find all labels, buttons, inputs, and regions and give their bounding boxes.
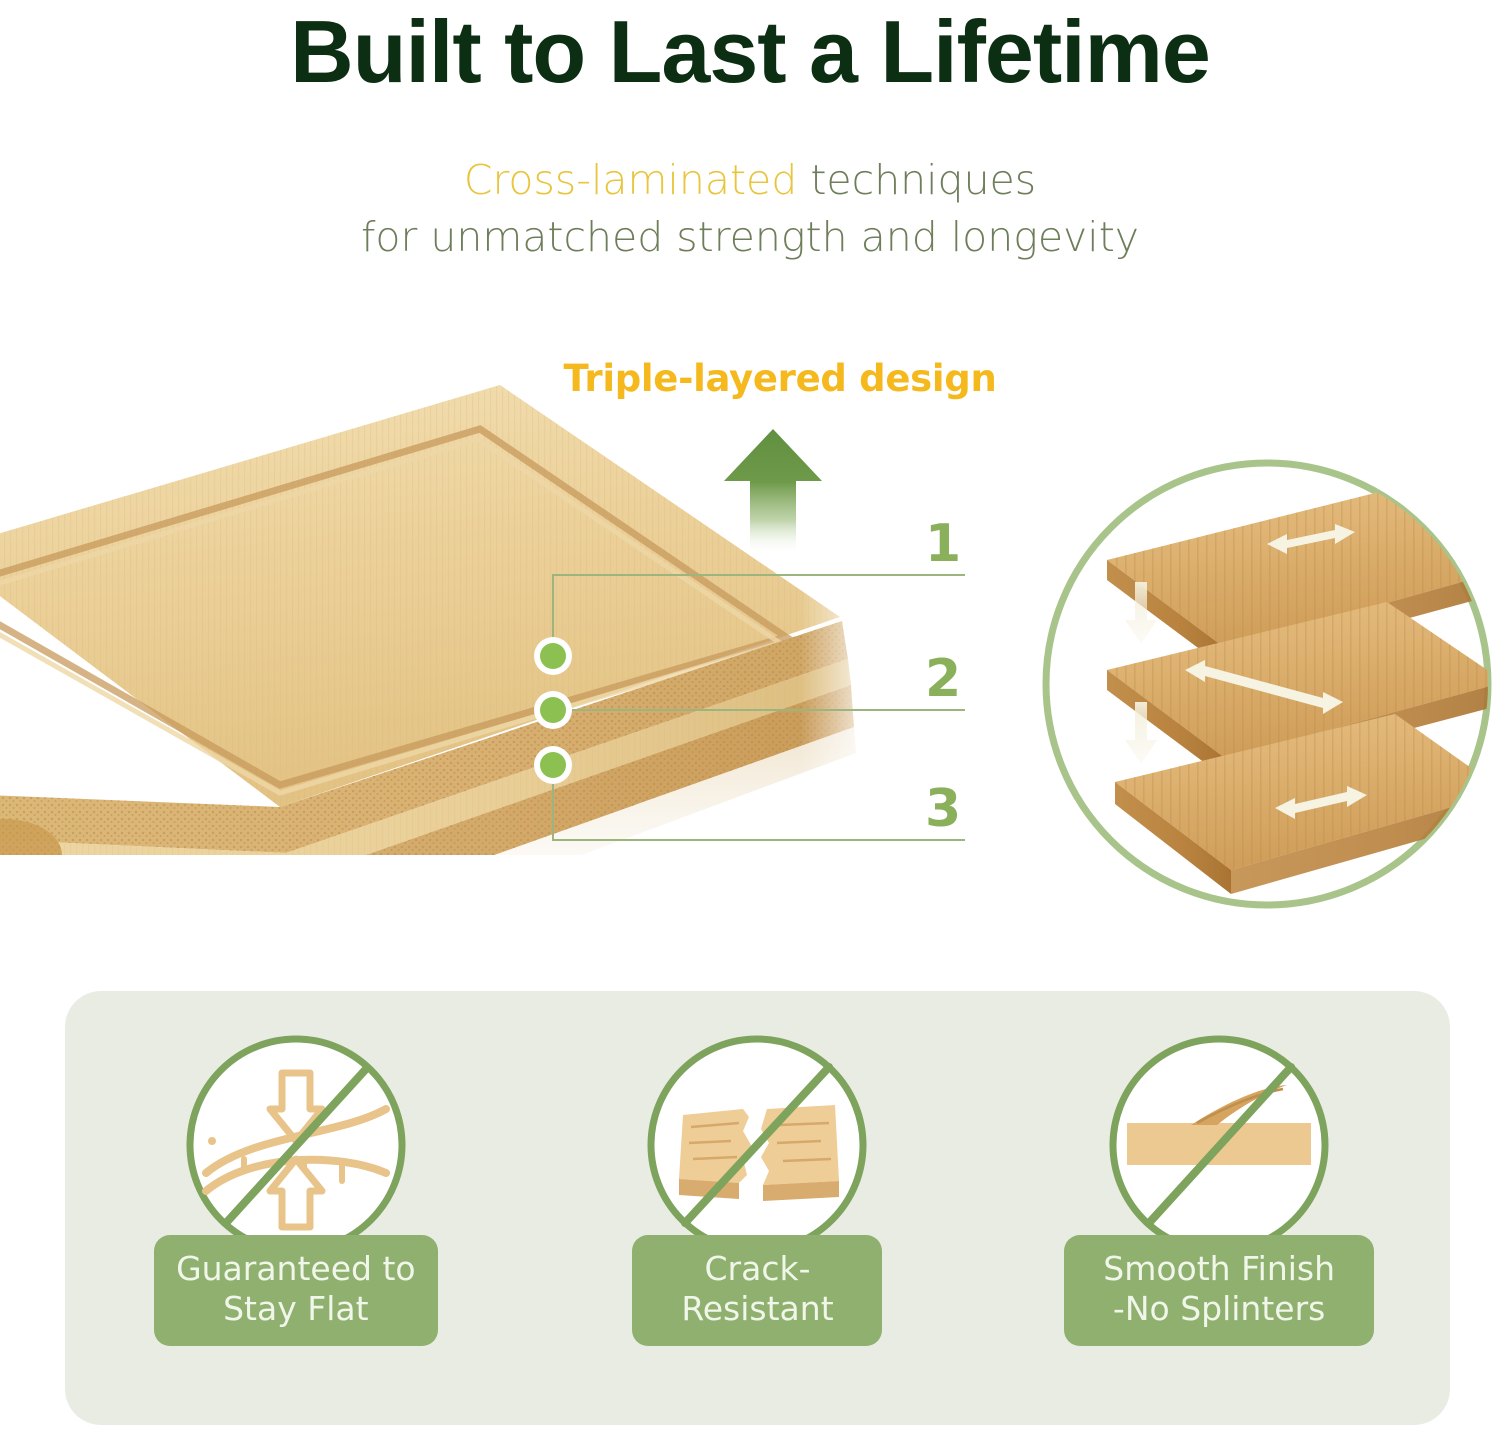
callout-dot-2: [534, 691, 572, 729]
infographic-stage: Built to Last a Lifetime Cross-laminated…: [0, 0, 1500, 1433]
splintered-plank-prohibited-icon: [1105, 1031, 1333, 1259]
callout-number-1: 1: [925, 518, 961, 570]
cracked-board-prohibited-icon: [643, 1031, 871, 1259]
features-badge-row: Guaranteed to Stay Flat: [65, 991, 1450, 1425]
feature-badge-crack-resistant[interactable]: Crack- Resistant: [592, 1031, 922, 1346]
callout-dot-3: [534, 746, 572, 784]
feature-label-crack-resistant: Crack- Resistant: [632, 1235, 882, 1346]
subtitle-line-1: Cross-laminated techniques: [0, 152, 1500, 209]
subtitle-line-2: for unmatched strength and longevity: [0, 209, 1500, 266]
page-subtitle: Cross-laminated techniques for unmatched…: [0, 152, 1500, 265]
feature-badge-stay-flat[interactable]: Guaranteed to Stay Flat: [131, 1031, 461, 1346]
exploded-layers-diagram: [1035, 452, 1500, 917]
triple-layered-label: Triple-layered design: [400, 357, 1160, 400]
callout-number-3: 3: [925, 783, 961, 835]
warp-board-prohibited-icon: [182, 1031, 410, 1259]
callout-dot-1: [534, 637, 572, 675]
feature-badge-smooth-finish[interactable]: Smooth Finish -No Splinters: [1054, 1031, 1384, 1346]
page-title: Built to Last a Lifetime: [0, 6, 1500, 98]
callout-number-2: 2: [925, 653, 961, 705]
feature-label-smooth-finish: Smooth Finish -No Splinters: [1064, 1235, 1374, 1346]
subtitle-rest: techniques: [797, 156, 1036, 204]
subtitle-highlight: Cross-laminated: [464, 156, 797, 204]
feature-label-stay-flat: Guaranteed to Stay Flat: [154, 1235, 438, 1346]
